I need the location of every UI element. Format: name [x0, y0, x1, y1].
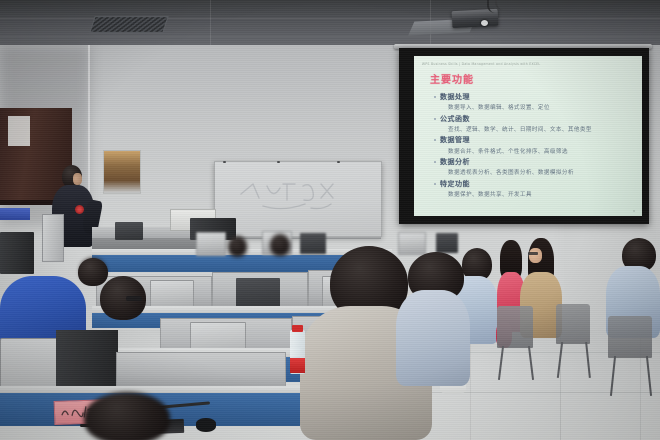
eyeglasses-icon — [126, 296, 142, 301]
projector-lens-icon — [481, 20, 488, 26]
mouse — [196, 418, 216, 432]
whiteboard-clip — [223, 161, 226, 163]
attendee-head — [270, 234, 290, 256]
slide-title: 主要功能 — [430, 71, 634, 86]
folding-chair — [556, 304, 590, 344]
desk-top — [0, 386, 300, 393]
slide-section: 数据处理 数据导入、数据编辑、格式设置、定位 — [434, 92, 634, 111]
attendee-head — [228, 236, 247, 257]
slide-page-number: 6 — [633, 209, 635, 213]
computer-monitor — [398, 232, 426, 255]
ceiling-seam — [0, 36, 660, 37]
shelf-item — [0, 208, 30, 220]
slide-section-items: 数据导入、数据编辑、格式设置、定位 — [448, 103, 634, 111]
attendee-lightblue-shirt — [396, 290, 470, 386]
slide-section: 特定功能 数据保护、数据共享、开发工具 — [434, 179, 634, 198]
slide-section-items: 查找、逻辑、数学、统计、日期时间、文本、其他类型 — [448, 125, 634, 133]
slide-section: 数据分析 数据透视表分析、各类图表分析、数据模拟分析 — [434, 157, 634, 176]
projection-screen: WPS Business Skills | Data Management an… — [414, 56, 642, 216]
computer-monitor — [115, 222, 143, 240]
slide-section-heading: 公式函数 — [434, 114, 634, 124]
presenter-face — [73, 173, 82, 185]
whiteboard-scribble — [237, 178, 353, 212]
monitor-back — [0, 232, 34, 274]
slide-section-heading: 特定功能 — [434, 179, 634, 189]
computer-monitor — [196, 232, 226, 256]
eyeglasses-icon — [528, 252, 538, 255]
slide-content: WPS Business Skills | Data Management an… — [414, 56, 642, 216]
slide-section-items: 数据保护、数据共享、开发工具 — [448, 190, 634, 198]
whiteboard — [214, 161, 382, 237]
whiteboard-clip — [277, 161, 280, 163]
computer-monitor — [300, 233, 326, 254]
ceiling-vent — [89, 16, 169, 33]
attendee-head — [78, 258, 108, 286]
whiteboard-clip — [337, 161, 340, 163]
slide-section-heading: 数据分析 — [434, 157, 634, 167]
water-bottle-cap — [292, 325, 303, 332]
floor-tile-line — [470, 330, 471, 440]
attendee-head — [84, 392, 170, 440]
posted-notice — [8, 116, 30, 146]
slide-section-items: 数据透视表分析、各类图表分析、数据模拟分析 — [448, 168, 634, 176]
presenter-shirt-logo — [75, 205, 84, 214]
slide-section: 公式函数 查找、逻辑、数学、统计、日期时间、文本、其他类型 — [434, 114, 634, 133]
attendee-face — [529, 248, 542, 263]
desktop-pc-tower — [42, 214, 64, 262]
water-bottle-label — [290, 358, 305, 373]
slide-section-items: 数据合并、条件格式、个性化排序、高级筛选 — [448, 147, 634, 155]
slide-section-heading: 数据处理 — [434, 92, 634, 102]
slide-section: 数据管理 数据合并、条件格式、个性化排序、高级筛选 — [434, 135, 634, 154]
computer-monitor — [436, 233, 458, 253]
classroom-photo: WPS Business Skills | Data Management an… — [0, 0, 660, 440]
slide-header-text: WPS Business Skills | Data Management an… — [422, 62, 636, 66]
folding-chair — [497, 306, 533, 348]
slide-section-heading: 数据管理 — [434, 135, 634, 145]
wall-poster — [103, 150, 141, 194]
folding-chair — [608, 316, 652, 358]
